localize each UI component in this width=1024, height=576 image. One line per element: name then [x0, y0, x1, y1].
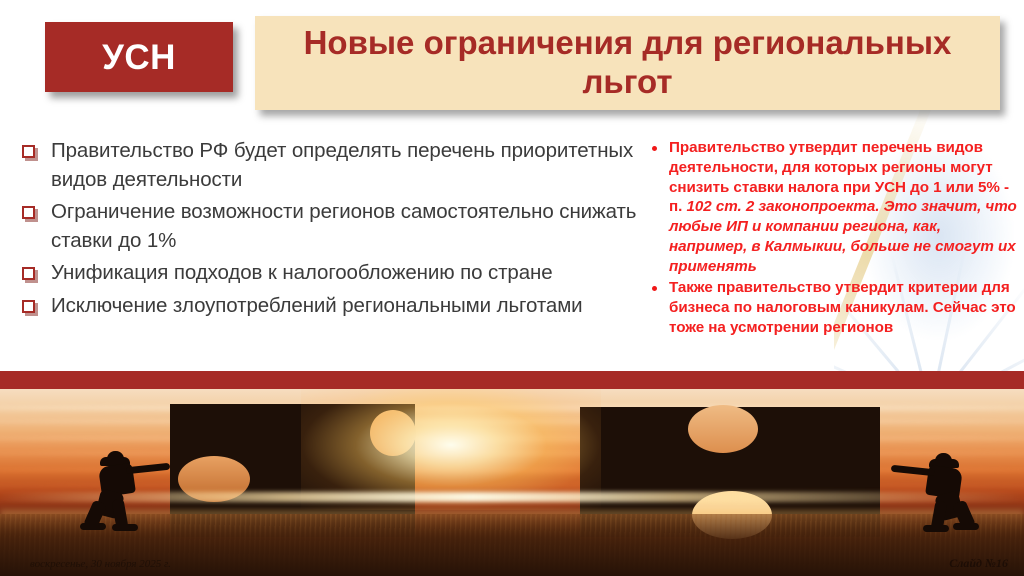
list-item: Исключение злоупотреблений региональными… — [22, 291, 652, 320]
callout-item-text: Правительство утвердит перечень видов де… — [669, 138, 1018, 276]
slide-title-box: Новые ограничения для региональных льгот — [255, 16, 1000, 110]
red-divider-band — [0, 371, 1024, 389]
page-title: Новые ограничения для региональных льгот — [255, 24, 1000, 101]
round-bullet-icon — [652, 286, 657, 291]
round-bullet-icon — [652, 146, 657, 151]
footer-date: воскресенье, 30 ноября 2025 г. — [30, 558, 171, 570]
list-item: Правительство РФ будет определять перече… — [22, 136, 652, 194]
footer-slide-number: Слайд №16 — [949, 556, 1008, 571]
callout-item: Также правительство утвердит критерии дл… — [652, 278, 1018, 337]
usn-tag-label: УСН — [102, 40, 176, 75]
list-item-label: Унификация подходов к налогообложению по… — [51, 258, 553, 287]
callout-italic-text: 102 ст. 2 законопроекта. Это значит, что… — [669, 198, 1017, 274]
list-item-label: Исключение злоупотреблений региональными… — [51, 291, 583, 320]
list-item-label: Ограничение возможности регионов самосто… — [51, 197, 652, 255]
square-bullet-icon — [22, 145, 35, 158]
left-bullet-list: Правительство РФ будет определять перече… — [22, 136, 652, 323]
right-callout-list: Правительство утвердит перечень видов де… — [652, 138, 1018, 340]
square-bullet-icon — [22, 267, 35, 280]
sunset-puzzle-photo: воскресенье, 30 ноября 2025 г. Слайд №16 — [0, 389, 1024, 576]
square-bullet-icon — [22, 206, 35, 219]
callout-item-text: Также правительство утвердит критерии дл… — [669, 278, 1018, 337]
presentation-slide: УСН Новые ограничения для региональных л… — [0, 0, 1024, 576]
list-item-label: Правительство РФ будет определять перече… — [51, 136, 652, 194]
callout-item: Правительство утвердит перечень видов де… — [652, 138, 1018, 276]
figure-left-silhouette — [78, 449, 174, 529]
usn-tag-box: УСН — [45, 22, 233, 92]
list-item: Унификация подходов к налогообложению по… — [22, 258, 652, 287]
callout-normal-text: Также правительство утвердит критерии дл… — [669, 279, 1016, 336]
figure-right-silhouette — [885, 451, 985, 529]
list-item: Ограничение возможности регионов самосто… — [22, 197, 652, 255]
square-bullet-icon — [22, 300, 35, 313]
